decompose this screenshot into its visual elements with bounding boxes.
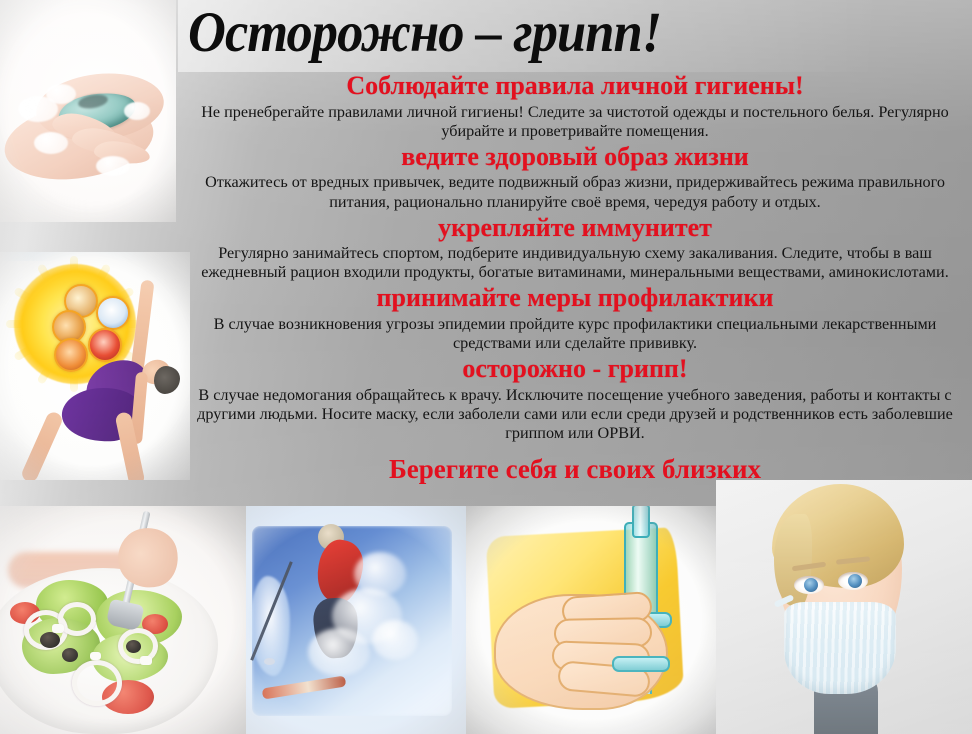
section-body: В случае недомогания обращайтесь к врачу…: [178, 386, 972, 443]
section-heading: укрепляйте иммунитет: [178, 214, 972, 243]
food-circle-dairy: [96, 296, 130, 330]
feta-cube: [52, 624, 64, 633]
food-circle-vegetables: [54, 338, 88, 372]
feta-cube: [140, 656, 152, 665]
onion-ring: [72, 660, 122, 706]
section-body: В случае возникновения угрозы эпидемии п…: [178, 315, 972, 353]
feta-cube: [90, 652, 101, 660]
section-heading: Соблюдайте правила личной гигиены!: [178, 72, 972, 101]
poster-text-column: Осторожно – грипп! Соблюдайте правила ли…: [178, 0, 972, 734]
foam-blob: [96, 156, 130, 176]
section-healthy-lifestyle: ведите здоровый образ жизни Откажитесь о…: [178, 143, 972, 212]
handwashing-photo: [0, 0, 176, 222]
food-circle-pepper: [88, 328, 122, 362]
section-heading: ведите здоровый образ жизни: [178, 143, 972, 172]
olive: [126, 640, 141, 653]
section-hygiene: Соблюдайте правила личной гигиены! Не пр…: [178, 72, 972, 141]
yoga-sun-photo: [0, 252, 190, 480]
section-beware-flu: осторожно - грипп! В случае недомогания …: [178, 355, 972, 443]
section-immunity: укрепляйте иммунитет Регулярно занимайте…: [178, 214, 972, 283]
section-body: Регулярно занимайтесь спортом, подберите…: [178, 244, 972, 282]
olive: [62, 648, 78, 662]
foam-blob: [124, 102, 150, 120]
foam-blob: [46, 84, 76, 104]
section-body: Откажитесь от вредных привычек, ведите п…: [178, 173, 972, 211]
section-body: Не пренебрегайте правилами личной гигиен…: [178, 103, 972, 141]
olive: [40, 632, 60, 648]
foam-blob: [34, 132, 68, 154]
poster-footer-slogan: Берегите себя и своих близких: [178, 455, 972, 485]
section-prevention: принимайте меры профилактики В случае во…: [178, 284, 972, 353]
flu-warning-poster: Осторожно – грипп! Соблюдайте правила ли…: [0, 0, 972, 734]
page-title: Осторожно – грипп!: [188, 4, 832, 61]
section-heading: принимайте меры профилактики: [178, 284, 972, 313]
section-heading: осторожно - грипп!: [178, 355, 972, 384]
